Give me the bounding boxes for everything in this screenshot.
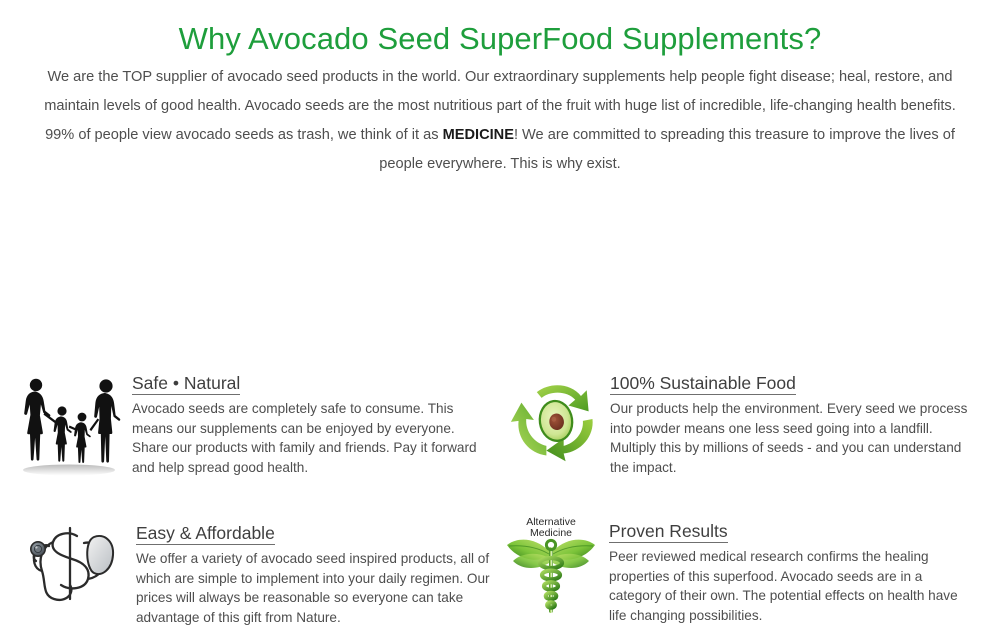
intro-paragraph: We are the TOP supplier of avocado seed … [40, 63, 960, 179]
feature-body-safe-natural: Safe • Natural Avocado seeds are complet… [132, 371, 484, 477]
feature-body-easy-affordable: Easy & Affordable We offer a variety of … [136, 519, 490, 627]
recycle-avocado-icon [508, 369, 604, 469]
feature-heading-easy-affordable: Easy & Affordable [136, 523, 275, 545]
icon-caption-line2: Medicine [530, 527, 572, 539]
features-grid: Safe • Natural Avocado seeds are complet… [0, 179, 1000, 469]
family-silhouette-icon [14, 371, 124, 481]
feature-body-proven-results: Proven Results Peer reviewed medical res… [609, 511, 975, 625]
page-title: Why Avocado Seed SuperFood Supplements? [0, 0, 1000, 58]
feature-block-easy-affordable: Easy & Affordable We offer a variety of … [20, 519, 490, 627]
feature-text-proven-results: Peer reviewed medical research confirms … [609, 547, 975, 625]
intro-emphasis-medicine: MEDICINE [443, 127, 514, 143]
caduceus-leaf-icon: Alternative Medicine [495, 511, 607, 623]
feature-heading-safe-natural: Safe • Natural [132, 373, 240, 395]
feature-block-safe-natural: Safe • Natural Avocado seeds are complet… [14, 371, 484, 481]
feature-heading-sustainable-food: 100% Sustainable Food [610, 373, 796, 395]
feature-block-proven-results: Alternative Medicine [495, 511, 975, 625]
feature-text-safe-natural: Avocado seeds are completely safe to con… [132, 399, 484, 477]
feature-block-sustainable-food: 100% Sustainable Food Our products help … [508, 369, 978, 477]
feature-heading-proven-results: Proven Results [609, 521, 728, 543]
feature-text-easy-affordable: We offer a variety of avocado seed inspi… [136, 549, 490, 627]
stethoscope-dollar-icon [20, 519, 124, 615]
feature-text-sustainable-food: Our products help the environment. Every… [610, 399, 978, 477]
feature-body-sustainable-food: 100% Sustainable Food Our products help … [610, 369, 978, 477]
